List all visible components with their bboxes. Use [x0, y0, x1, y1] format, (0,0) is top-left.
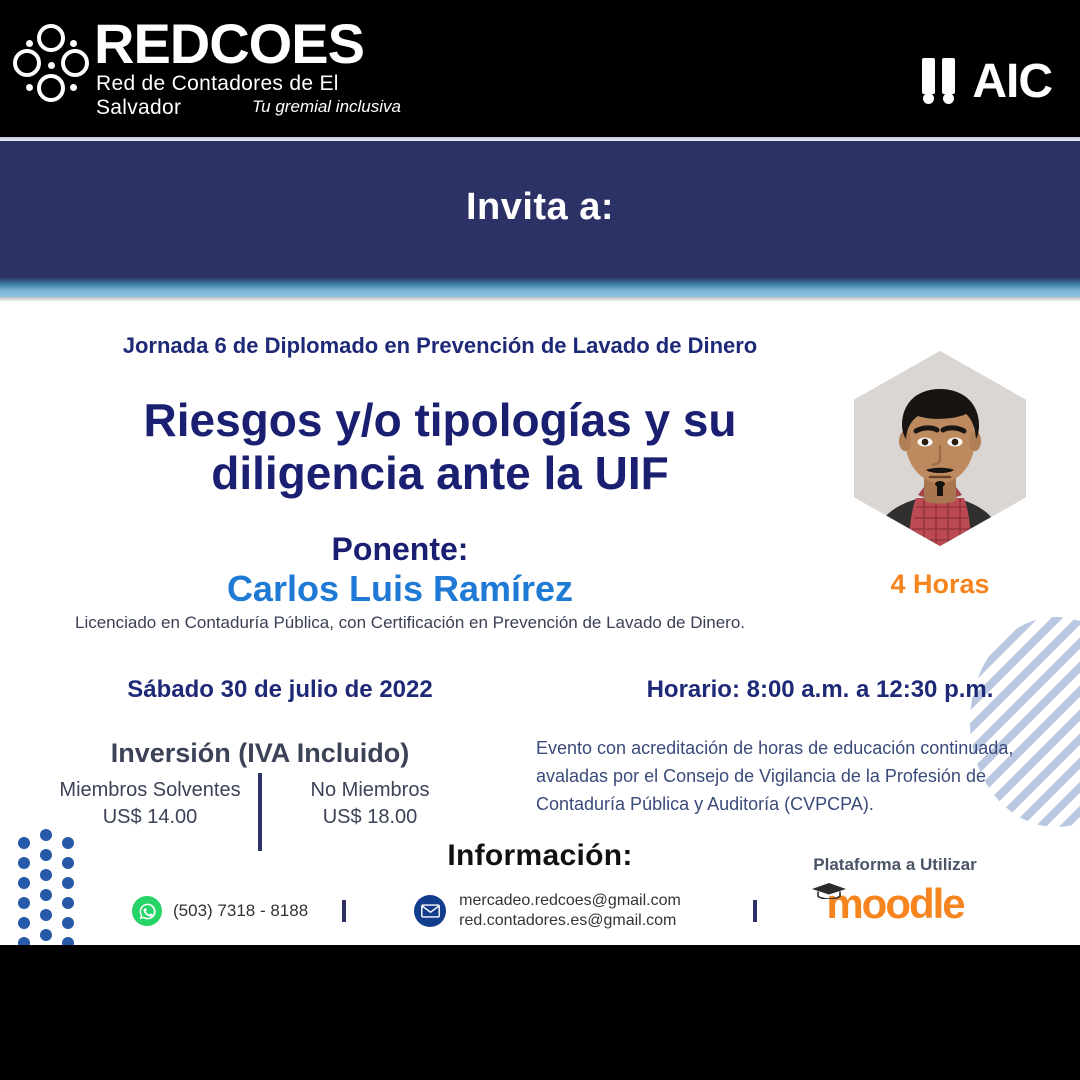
- email-secondary: red.contadores.es@gmail.com: [459, 911, 681, 931]
- duration-badge: 4 Horas: [826, 569, 1054, 600]
- event-time: Horario: 8:00 a.m. a 12:30 p.m.: [560, 676, 1080, 704]
- whatsapp-contact[interactable]: (503) 7318 - 8188: [132, 896, 308, 926]
- investment-tier-nonmember: No Miembros US$ 18.00: [260, 777, 480, 831]
- speaker-credentials: Licenciado en Contaduría Pública, con Ce…: [0, 613, 820, 633]
- aic-bars-icon: [920, 58, 960, 106]
- event-title-line-2: diligencia ante la UIF: [0, 447, 880, 500]
- email-addresses: mercadeo.redcoes@gmail.com red.contadore…: [459, 891, 681, 932]
- tier-label: Miembros Solventes: [40, 777, 260, 804]
- aic-logo: AIC: [920, 54, 1052, 109]
- aic-text: AIC: [972, 54, 1052, 109]
- tier-price: US$ 18.00: [260, 804, 480, 831]
- investment-tier-member: Miembros Solventes US$ 14.00: [40, 777, 260, 831]
- envelope-icon[interactable]: [414, 895, 446, 927]
- whatsapp-icon[interactable]: [132, 896, 162, 926]
- flyer-canvas: Invita a: REDCOES Red de Contadores de E…: [0, 0, 1080, 1080]
- decorative-dot: [62, 877, 74, 889]
- decorative-dot: [18, 877, 30, 889]
- whatsapp-number: (503) 7318 - 8188: [173, 901, 308, 921]
- schedule-row: Sábado 30 de julio de 2022 Horario: 8:00…: [0, 676, 1080, 704]
- gradient-band: [0, 273, 1080, 297]
- decorative-dot: [18, 937, 30, 945]
- accreditation-text: Evento con acreditación de horas de educ…: [536, 735, 1036, 819]
- redcoes-logo: REDCOES Red de Contadores de El Salvador…: [10, 14, 410, 122]
- letterbox-bottom: [0, 945, 1080, 1080]
- contact-separator: [753, 900, 757, 922]
- brand-name: REDCOES: [94, 16, 364, 72]
- event-title-line-1: Riesgos y/o tipologías y su: [0, 394, 880, 447]
- tier-label: No Miembros: [260, 777, 480, 804]
- platform-label: Plataforma a Utilizar: [770, 855, 1020, 875]
- redcoes-rings-icon: [10, 24, 92, 106]
- speaker-photo: [845, 341, 1035, 556]
- event-date: Sábado 30 de julio de 2022: [0, 676, 560, 704]
- investment-block: Inversión (IVA Incluido) Miembros Solven…: [40, 738, 480, 831]
- contact-separator: [342, 900, 346, 922]
- investment-title: Inversión (IVA Incluido): [40, 738, 480, 769]
- brand-tagline: Tu gremial inclusiva: [96, 97, 401, 117]
- tier-price: US$ 14.00: [40, 804, 260, 831]
- speaker-name: Carlos Luis Ramírez: [0, 568, 800, 610]
- speaker-role-label: Ponente:: [0, 531, 800, 568]
- content-area: Jornada 6 de Diplomado en Prevención de …: [0, 301, 1080, 945]
- event-title: Riesgos y/o tipologías y su diligencia a…: [0, 394, 880, 500]
- email-contact[interactable]: mercadeo.redcoes@gmail.com red.contadore…: [414, 891, 681, 932]
- decorative-dot: [62, 937, 74, 945]
- platform-block: Plataforma a Utilizar moodle: [770, 855, 1020, 927]
- graduation-cap-icon: [812, 883, 846, 899]
- event-series-label: Jornada 6 de Diplomado en Prevención de …: [0, 333, 880, 359]
- moodle-wordmark: moodle: [770, 881, 1020, 927]
- contact-row: (503) 7318 - 8188 mercadeo.redcoes@gmail…: [0, 891, 760, 932]
- moodle-logo: moodle: [770, 881, 1020, 927]
- email-primary: mercadeo.redcoes@gmail.com: [459, 891, 681, 911]
- invita-label: Invita a:: [0, 141, 1080, 273]
- investment-tiers: Miembros Solventes US$ 14.00 No Miembros…: [40, 777, 480, 831]
